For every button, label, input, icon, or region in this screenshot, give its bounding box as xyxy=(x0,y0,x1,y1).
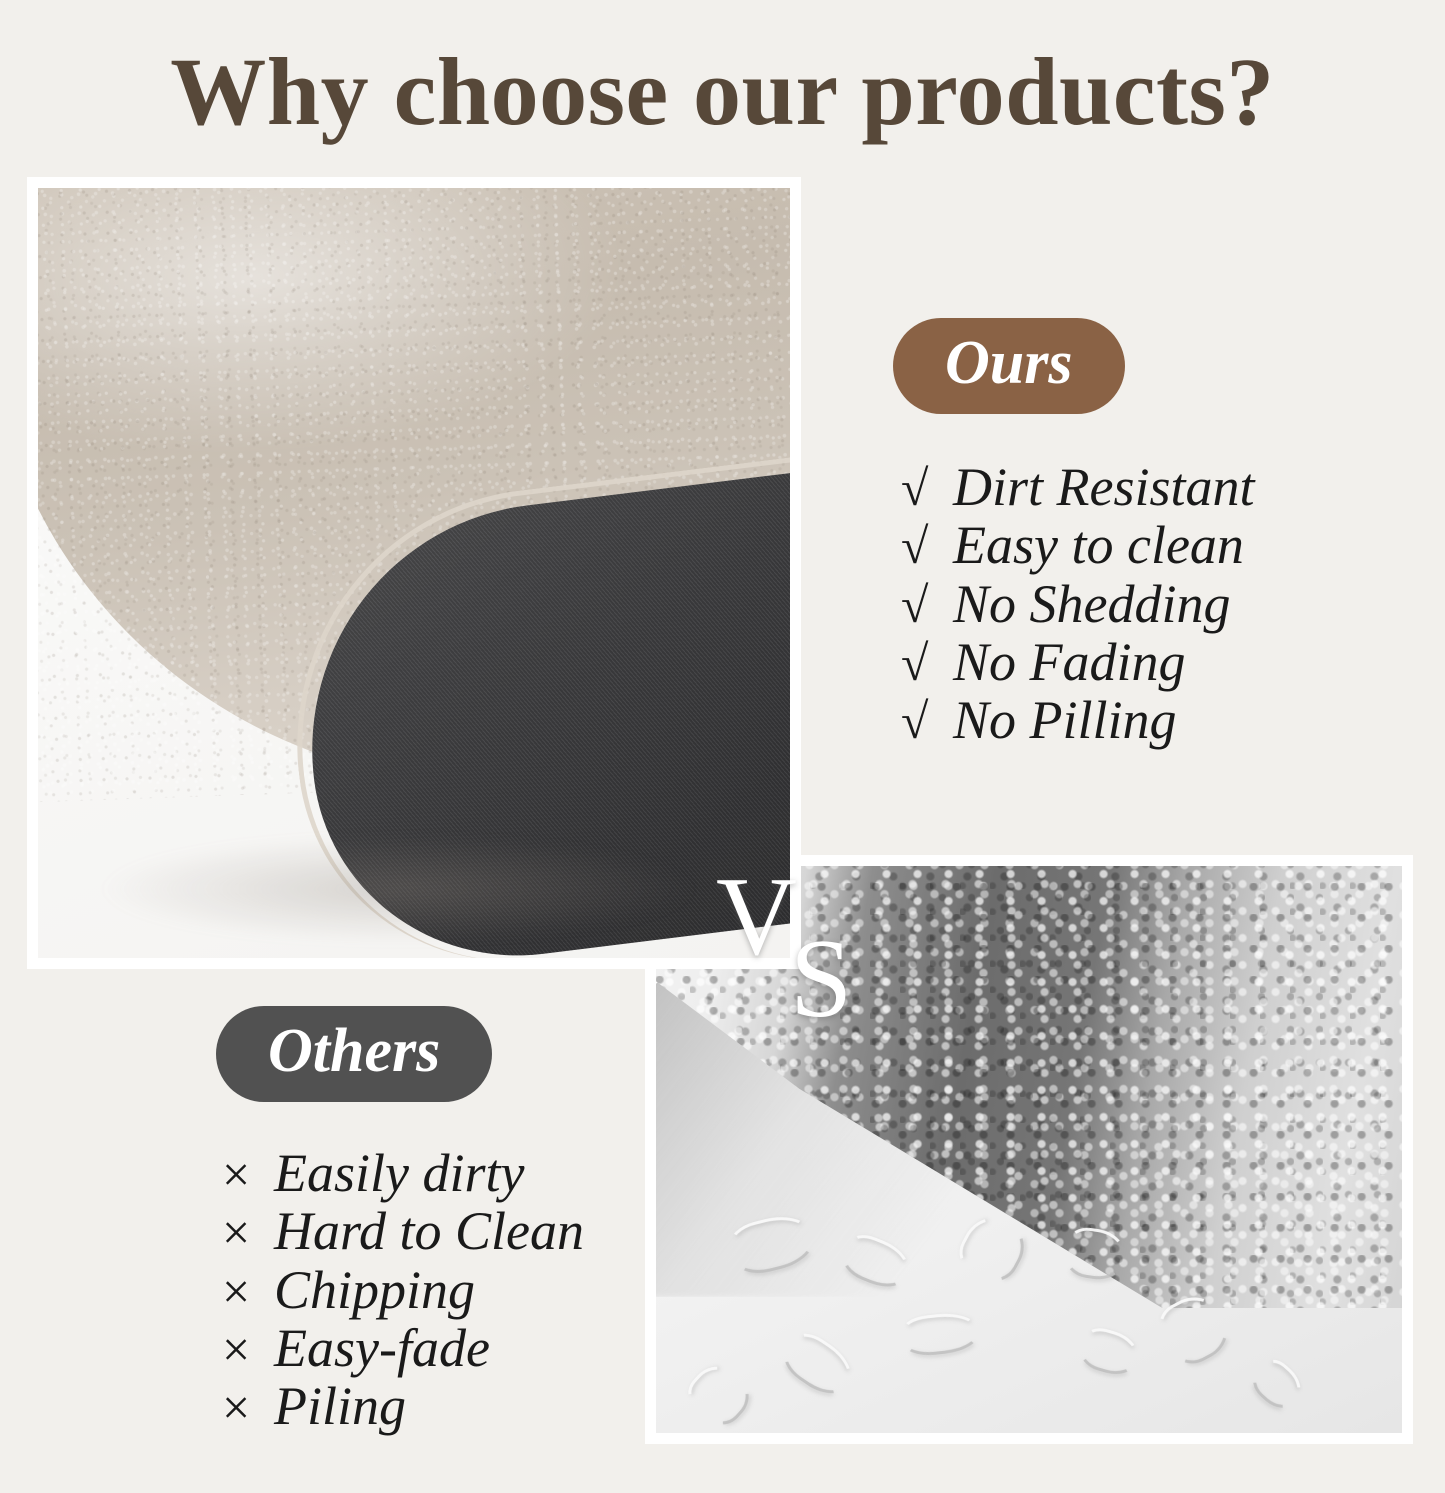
ours-feature-label: No Shedding xyxy=(953,575,1231,633)
cross-icon: × xyxy=(222,1147,274,1201)
ours-badge: Ours xyxy=(893,318,1125,414)
list-item: √ Dirt Resistant xyxy=(901,458,1255,516)
list-item: √ No Fading xyxy=(901,633,1255,691)
list-item: × Easily dirty xyxy=(222,1144,584,1202)
cross-icon: × xyxy=(222,1322,274,1376)
others-feature-label: Chipping xyxy=(274,1261,475,1319)
mat-drop-shadow xyxy=(98,835,700,943)
ours-feature-label: Easy to clean xyxy=(953,516,1244,574)
others-feature-label: Easy-fade xyxy=(274,1319,490,1377)
shed-fiber xyxy=(681,1354,760,1433)
others-feature-label: Hard to Clean xyxy=(274,1202,584,1260)
shed-fiber xyxy=(1077,1324,1144,1380)
list-item: √ No Shedding xyxy=(901,575,1255,633)
ours-feature-label: No Pilling xyxy=(953,691,1177,749)
list-item: √ Easy to clean xyxy=(901,516,1255,574)
others-badge: Others xyxy=(216,1006,492,1102)
ours-panel: Ours √ Dirt Resistant √ Easy to clean √ … xyxy=(893,318,1255,750)
ours-product-photo-frame xyxy=(27,177,801,969)
list-item: × Hard to Clean xyxy=(222,1202,584,1260)
list-item: × Piling xyxy=(222,1377,584,1435)
list-item: × Easy-fade xyxy=(222,1319,584,1377)
ours-feature-label: No Fading xyxy=(953,633,1186,691)
cross-icon: × xyxy=(222,1205,274,1259)
page-title: Why choose our products? xyxy=(0,44,1445,140)
list-item: √ No Pilling xyxy=(901,691,1255,749)
others-feature-label: Piling xyxy=(274,1377,406,1435)
cross-icon: × xyxy=(222,1380,274,1434)
check-icon: √ xyxy=(901,694,953,748)
check-icon: √ xyxy=(901,461,953,515)
ours-feature-label: Dirt Resistant xyxy=(953,458,1255,516)
check-icon: √ xyxy=(901,519,953,573)
ours-feature-list: √ Dirt Resistant √ Easy to clean √ No Sh… xyxy=(901,458,1255,750)
list-item: × Chipping xyxy=(222,1261,584,1319)
shed-fiber xyxy=(900,1310,982,1358)
others-panel: Others × Easily dirty × Hard to Clean × … xyxy=(216,1006,584,1436)
others-feature-list: × Easily dirty × Hard to Clean × Chippin… xyxy=(222,1144,584,1436)
others-feature-label: Easily dirty xyxy=(274,1144,524,1202)
shed-fiber xyxy=(776,1326,861,1404)
shed-fiber xyxy=(1246,1353,1310,1416)
ours-product-photo xyxy=(38,188,790,958)
check-icon: √ xyxy=(901,578,953,632)
cross-icon: × xyxy=(222,1264,274,1318)
check-icon: √ xyxy=(901,636,953,690)
